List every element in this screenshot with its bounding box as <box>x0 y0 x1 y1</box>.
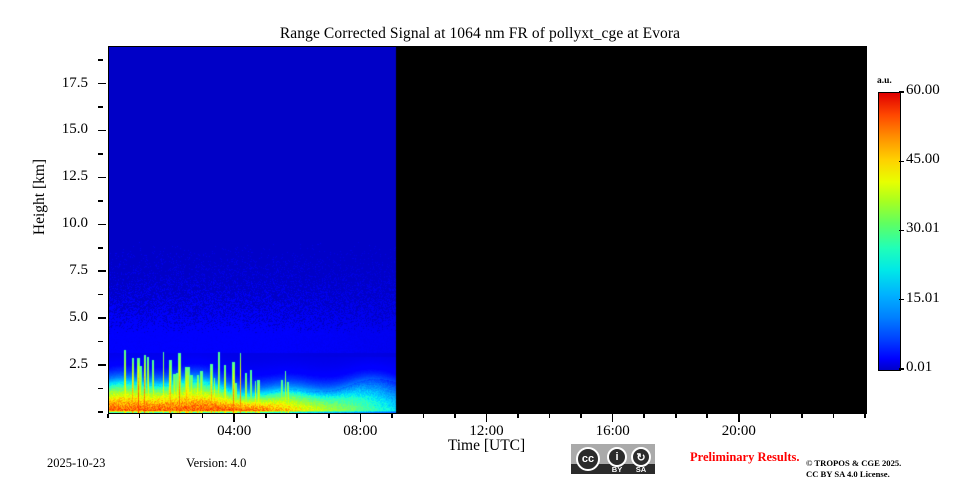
y-tick-minor <box>98 247 103 249</box>
preliminary-results-note: Preliminary Results. <box>690 450 800 464</box>
x-tick-minor <box>706 414 708 419</box>
x-tick-minor <box>770 414 772 419</box>
y-tick-major <box>98 270 106 272</box>
cc-icon: cc <box>576 447 600 471</box>
sa-icon: ↻ <box>631 447 651 467</box>
y-tick-minor <box>98 153 103 155</box>
colorbar-tick-label: 0.01 <box>906 359 932 376</box>
x-tick-minor <box>801 414 803 419</box>
by-label: BY <box>605 465 629 474</box>
y-tick-major <box>98 317 106 319</box>
colorbar-tick-label: 60.00 <box>906 82 940 99</box>
colorbar-tick-label: 45.00 <box>906 151 940 168</box>
y-tick-major <box>98 177 106 179</box>
x-tick-minor <box>107 414 109 419</box>
colorbar-tick-label: 15.01 <box>906 290 940 307</box>
x-tick-minor <box>423 414 425 419</box>
colorbar-unit-label: a.u. <box>877 76 892 86</box>
y-tick-label: 5.0 <box>32 309 88 326</box>
x-tick-minor <box>549 414 551 419</box>
y-tick-minor <box>98 200 103 202</box>
x-tick-major <box>486 414 488 422</box>
x-tick-minor <box>864 414 866 419</box>
page-title: Range Corrected Signal at 1064 nm FR of … <box>0 25 960 43</box>
copyright-line-1: © TROPOS & CGE 2025. <box>806 458 956 469</box>
y-tick-label: 17.5 <box>32 75 88 92</box>
x-tick-minor <box>454 414 456 419</box>
colorbar <box>878 92 901 371</box>
y-axis-title: Height [km] <box>31 97 49 297</box>
y-tick-minor <box>98 294 103 296</box>
heatmap-canvas <box>109 47 866 413</box>
x-tick-major <box>233 414 235 422</box>
y-tick-minor <box>98 411 103 413</box>
x-tick-minor <box>296 414 298 419</box>
lidar-heatmap-plot <box>108 46 867 414</box>
x-tick-minor <box>202 414 204 419</box>
footer-date: 2025-10-23 <box>47 456 105 471</box>
y-tick-label: 2.5 <box>32 356 88 373</box>
footer-version: Version: 4.0 <box>186 456 246 471</box>
x-tick-minor <box>675 414 677 419</box>
y-tick-minor <box>98 341 103 343</box>
quicklook-figure: Range Corrected Signal at 1064 nm FR of … <box>0 0 960 480</box>
y-tick-minor <box>98 388 103 390</box>
colorbar-tick <box>899 368 904 369</box>
y-tick-major <box>98 364 106 366</box>
y-tick-major <box>98 130 106 132</box>
colorbar-tick-label: 30.01 <box>906 220 940 237</box>
by-icon: i <box>607 447 627 467</box>
y-tick-minor <box>98 59 103 61</box>
x-tick-minor <box>265 414 267 419</box>
copyright-note: © TROPOS & CGE 2025. CC BY SA 4.0 Licens… <box>806 458 956 480</box>
x-tick-major <box>360 414 362 422</box>
colorbar-tick <box>899 161 904 162</box>
x-tick-minor <box>643 414 645 419</box>
x-tick-minor <box>328 414 330 419</box>
x-tick-minor <box>170 414 172 419</box>
y-tick-major <box>98 224 106 226</box>
x-tick-minor <box>391 414 393 419</box>
sa-label: SA <box>629 465 653 474</box>
colorbar-tick <box>899 230 904 231</box>
copyright-line-2: CC BY SA 4.0 License. <box>806 469 956 480</box>
colorbar-tick <box>899 299 904 300</box>
cc-by-sa-license-badge[interactable]: cc i ↻ BY SA <box>571 444 655 474</box>
y-tick-minor <box>98 106 103 108</box>
x-tick-minor <box>517 414 519 419</box>
colorbar-tick <box>899 91 904 92</box>
y-tick-major <box>98 83 106 85</box>
x-tick-major <box>612 414 614 422</box>
x-tick-minor <box>580 414 582 419</box>
x-tick-major <box>738 414 740 422</box>
x-tick-minor <box>139 414 141 419</box>
x-tick-minor <box>833 414 835 419</box>
